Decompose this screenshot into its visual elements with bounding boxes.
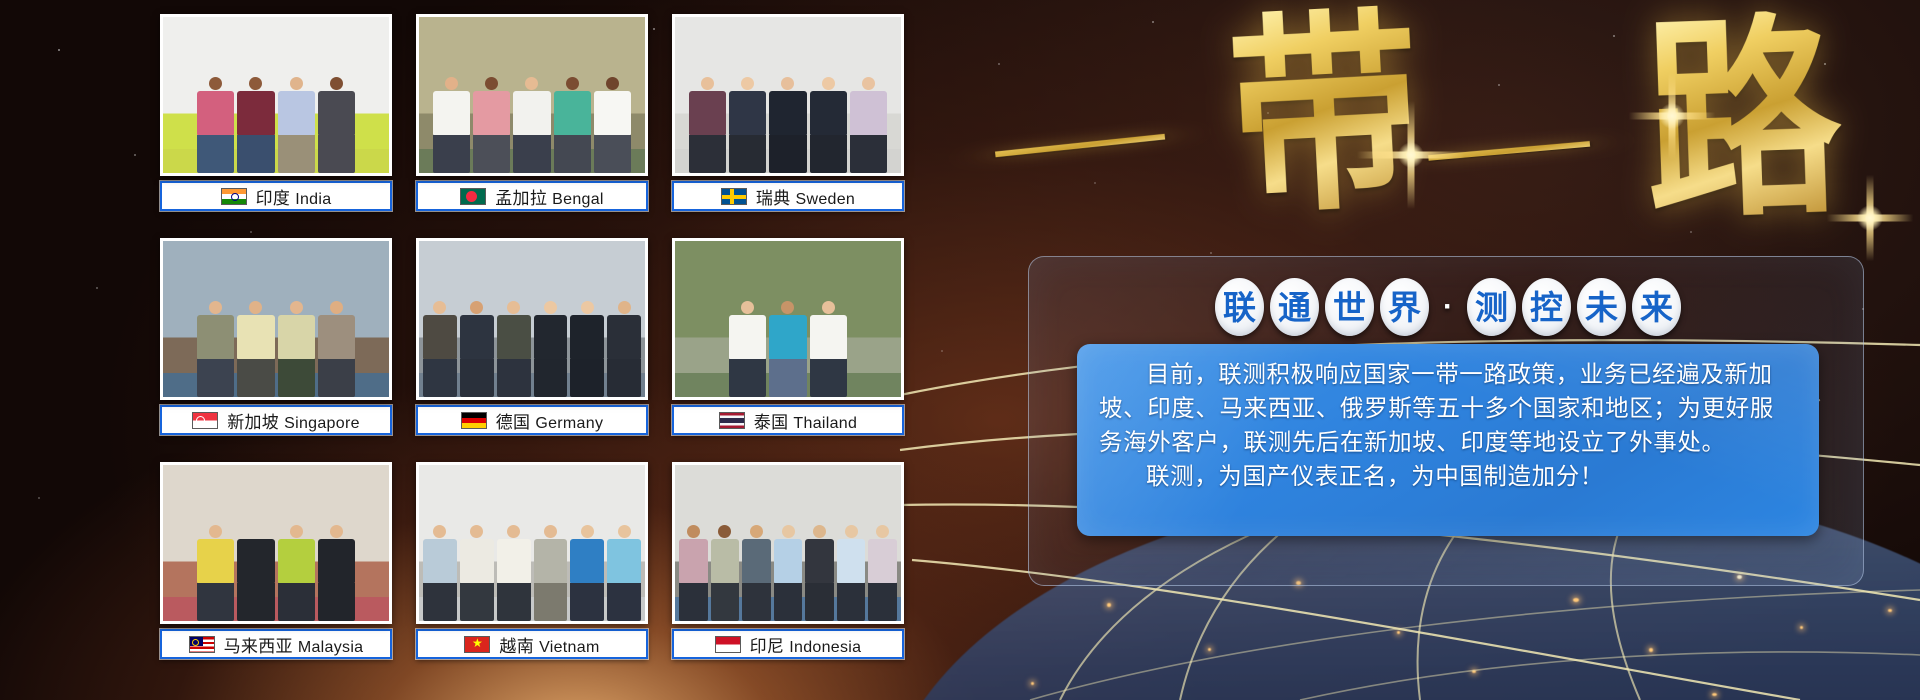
country-photo[interactable] bbox=[160, 462, 392, 624]
photo-person bbox=[769, 301, 806, 397]
country-card[interactable]: 马来西亚 Malaysia bbox=[160, 462, 392, 670]
slogan-char-badge: 未 bbox=[1577, 278, 1626, 336]
country-name-cn: 印度 bbox=[256, 189, 291, 208]
photo-people-group bbox=[423, 525, 641, 621]
country-card[interactable]: 德国 Germany bbox=[416, 238, 648, 446]
photo-person bbox=[497, 301, 531, 397]
country-name-en: Bengal bbox=[552, 191, 604, 208]
photo-person bbox=[513, 77, 550, 173]
slogan-char-badge: 来 bbox=[1632, 278, 1681, 336]
photo-people-group bbox=[679, 525, 897, 621]
country-label-text: 新加坡 Singapore bbox=[227, 408, 360, 433]
calligraphy-char-4: 路 bbox=[1641, 9, 1844, 231]
photo-person bbox=[607, 525, 641, 621]
country-label[interactable]: 新加坡 Singapore bbox=[160, 405, 392, 435]
photo-person bbox=[460, 525, 494, 621]
flag-bangladesh-icon bbox=[460, 188, 486, 205]
photo-person bbox=[711, 525, 740, 621]
country-name-en: Vietnam bbox=[539, 639, 600, 656]
photo-person bbox=[570, 525, 604, 621]
photo-person bbox=[689, 77, 726, 173]
country-name-cn: 孟加拉 bbox=[495, 189, 547, 208]
country-card[interactable]: 越南 Vietnam bbox=[416, 462, 648, 670]
photo-person bbox=[534, 525, 568, 621]
photo-person bbox=[237, 77, 274, 173]
photo-person bbox=[810, 301, 847, 397]
photo-people-group bbox=[423, 301, 641, 397]
country-label-text: 孟加拉 Bengal bbox=[495, 184, 604, 209]
flag-india-icon bbox=[221, 188, 247, 205]
country-name-en: India bbox=[295, 191, 331, 208]
country-card[interactable]: 新加坡 Singapore bbox=[160, 238, 392, 446]
country-label[interactable]: 泰国 Thailand bbox=[672, 405, 904, 435]
country-card[interactable]: 孟加拉 Bengal bbox=[416, 14, 648, 222]
photo-people-group bbox=[167, 77, 385, 173]
photo-person bbox=[729, 301, 766, 397]
slogan-char-badge: 通 bbox=[1270, 278, 1319, 336]
photo-person bbox=[278, 301, 315, 397]
country-card[interactable]: 印度 India bbox=[160, 14, 392, 222]
calligraphy-char-1: 一 bbox=[988, 114, 1172, 183]
country-label-text: 瑞典 Sweden bbox=[756, 184, 855, 209]
slogan-char-badge: 测 bbox=[1467, 278, 1516, 336]
country-photo[interactable] bbox=[160, 14, 392, 176]
photo-person bbox=[534, 301, 568, 397]
slogan-char-badge: 界 bbox=[1380, 278, 1429, 336]
calligraphy-char-3: 一 bbox=[1422, 121, 1597, 185]
country-label-text: 泰国 Thailand bbox=[754, 408, 857, 433]
photo-person bbox=[197, 301, 234, 397]
country-name-cn: 马来西亚 bbox=[224, 637, 293, 656]
photo-person bbox=[497, 525, 531, 621]
photo-person bbox=[197, 525, 234, 621]
photo-person bbox=[679, 525, 708, 621]
photo-person bbox=[837, 525, 866, 621]
country-photo[interactable] bbox=[672, 462, 904, 624]
flag-vietnam-icon bbox=[464, 636, 490, 653]
photo-person bbox=[433, 77, 470, 173]
belt-and-road-title: 一 带 一 路 bbox=[1020, 8, 1900, 228]
photo-person bbox=[774, 525, 803, 621]
country-photo-grid: 印度 India孟加拉 Bengal瑞典 Sweden新加坡 Singapore… bbox=[160, 14, 920, 686]
flag-sweden-icon bbox=[721, 188, 747, 205]
banner-stage: 印度 India孟加拉 Bengal瑞典 Sweden新加坡 Singapore… bbox=[0, 0, 1920, 700]
photo-person bbox=[729, 77, 766, 173]
photo-person bbox=[237, 301, 274, 397]
country-name-en: Singapore bbox=[284, 415, 360, 432]
country-label[interactable]: 印尼 Indonesia bbox=[672, 629, 904, 659]
country-name-cn: 德国 bbox=[496, 413, 531, 432]
country-name-en: Thailand bbox=[793, 415, 857, 432]
country-name-en: Indonesia bbox=[789, 639, 861, 656]
country-photo[interactable] bbox=[416, 462, 648, 624]
photo-people-group bbox=[679, 77, 897, 173]
slogan-char-badge: 联 bbox=[1215, 278, 1264, 336]
photo-person bbox=[278, 77, 315, 173]
country-name-cn: 瑞典 bbox=[756, 189, 791, 208]
photo-person bbox=[197, 77, 234, 173]
country-card[interactable]: 印尼 Indonesia bbox=[672, 462, 904, 670]
country-label-text: 德国 Germany bbox=[496, 408, 604, 433]
photo-person bbox=[460, 301, 494, 397]
photo-person bbox=[318, 525, 355, 621]
photo-person bbox=[607, 301, 641, 397]
flag-germany-icon bbox=[461, 412, 487, 429]
country-label[interactable]: 越南 Vietnam bbox=[416, 629, 648, 659]
country-name-en: Germany bbox=[535, 415, 603, 432]
photo-person bbox=[554, 77, 591, 173]
country-label-text: 马来西亚 Malaysia bbox=[224, 632, 364, 657]
photo-person bbox=[423, 301, 457, 397]
country-name-cn: 新加坡 bbox=[227, 413, 279, 432]
country-photo[interactable] bbox=[672, 14, 904, 176]
photo-person bbox=[318, 301, 355, 397]
photo-person bbox=[278, 525, 315, 621]
country-photo[interactable] bbox=[416, 238, 648, 400]
flag-singapore-icon bbox=[192, 412, 218, 429]
flag-thailand-icon bbox=[719, 412, 745, 429]
country-label[interactable]: 瑞典 Sweden bbox=[672, 181, 904, 211]
photo-person bbox=[473, 77, 510, 173]
photo-people-group bbox=[167, 301, 385, 397]
country-photo[interactable] bbox=[160, 238, 392, 400]
photo-person bbox=[318, 77, 355, 173]
country-label[interactable]: 德国 Germany bbox=[416, 405, 648, 435]
photo-people-group bbox=[423, 77, 641, 173]
country-label[interactable]: 孟加拉 Bengal bbox=[416, 181, 648, 211]
country-label[interactable]: 印度 India bbox=[160, 181, 392, 211]
country-label-text: 越南 Vietnam bbox=[499, 632, 599, 657]
country-name-en: Sweden bbox=[796, 191, 856, 208]
country-name-cn: 印尼 bbox=[750, 637, 785, 656]
photo-person bbox=[237, 525, 274, 621]
flag-malaysia-icon bbox=[189, 636, 215, 653]
slogan-separator-dot: · bbox=[1435, 278, 1461, 336]
flag-indonesia-icon bbox=[715, 636, 741, 653]
photo-person bbox=[423, 525, 457, 621]
photo-people-group bbox=[679, 301, 897, 397]
country-name-cn: 越南 bbox=[499, 637, 534, 656]
calligraphy-char-2: 带 bbox=[1225, 4, 1426, 226]
country-name-cn: 泰国 bbox=[754, 413, 789, 432]
slogan-char-badge: 控 bbox=[1522, 278, 1571, 336]
description-paragraph: 目前，联测积极响应国家一带一路政策，业务已经遍及新加坡、印度、马来西亚、俄罗斯等… bbox=[1077, 344, 1819, 536]
country-card[interactable]: 泰国 Thailand bbox=[672, 238, 904, 446]
slogan-char-badge: 世 bbox=[1325, 278, 1374, 336]
country-name-en: Malaysia bbox=[298, 639, 364, 656]
photo-person bbox=[868, 525, 897, 621]
slogan-row: 联通世界·测控未来 bbox=[1078, 276, 1818, 338]
photo-person bbox=[810, 77, 847, 173]
photo-person bbox=[850, 77, 887, 173]
country-label-text: 印度 India bbox=[256, 184, 332, 209]
paragraph-line-2: 联测，为国产仪表正名，为中国制造加分！ bbox=[1099, 459, 1797, 493]
paragraph-line-1: 目前，联测积极响应国家一带一路政策，业务已经遍及新加坡、印度、马来西亚、俄罗斯等… bbox=[1099, 357, 1797, 459]
country-label-text: 印尼 Indonesia bbox=[750, 632, 862, 657]
country-photo[interactable] bbox=[416, 14, 648, 176]
country-card[interactable]: 瑞典 Sweden bbox=[672, 14, 904, 222]
photo-person bbox=[742, 525, 771, 621]
photo-people-group bbox=[167, 525, 385, 621]
photo-person bbox=[594, 77, 631, 173]
photo-person bbox=[769, 77, 806, 173]
photo-person bbox=[805, 525, 834, 621]
photo-person bbox=[570, 301, 604, 397]
country-label[interactable]: 马来西亚 Malaysia bbox=[160, 629, 392, 659]
country-photo[interactable] bbox=[672, 238, 904, 400]
